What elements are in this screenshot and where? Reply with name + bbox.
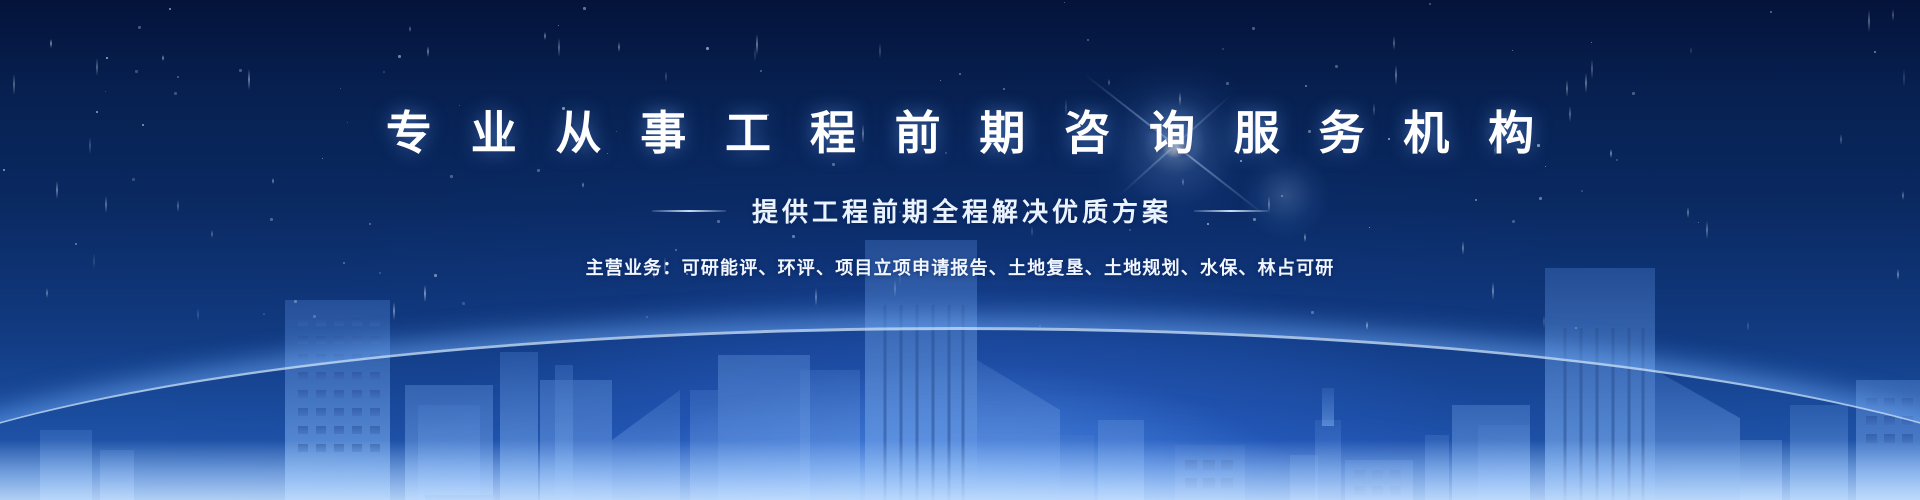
subtitle-row: 提供工程前期全程解决优质方案 — [0, 192, 1920, 229]
services-line: 主营业务：可研能评、环评、项目立项申请报告、土地复垦、土地规划、水保、林占可研 — [0, 254, 1920, 280]
hero-banner: 专 业 从 事 工 程 前 期 咨 询 服 务 机 构 提供工程前期全程解决优质… — [0, 0, 1920, 500]
page-title: 专 业 从 事 工 程 前 期 咨 询 服 务 机 构 — [0, 108, 1920, 160]
decor-dash-right-icon — [1194, 210, 1268, 212]
page-subtitle: 提供工程前期全程解决优质方案 — [748, 192, 1172, 229]
decor-dash-left-icon — [652, 210, 726, 212]
banner-content: 专 业 从 事 工 程 前 期 咨 询 服 务 机 构 提供工程前期全程解决优质… — [0, 0, 1920, 500]
